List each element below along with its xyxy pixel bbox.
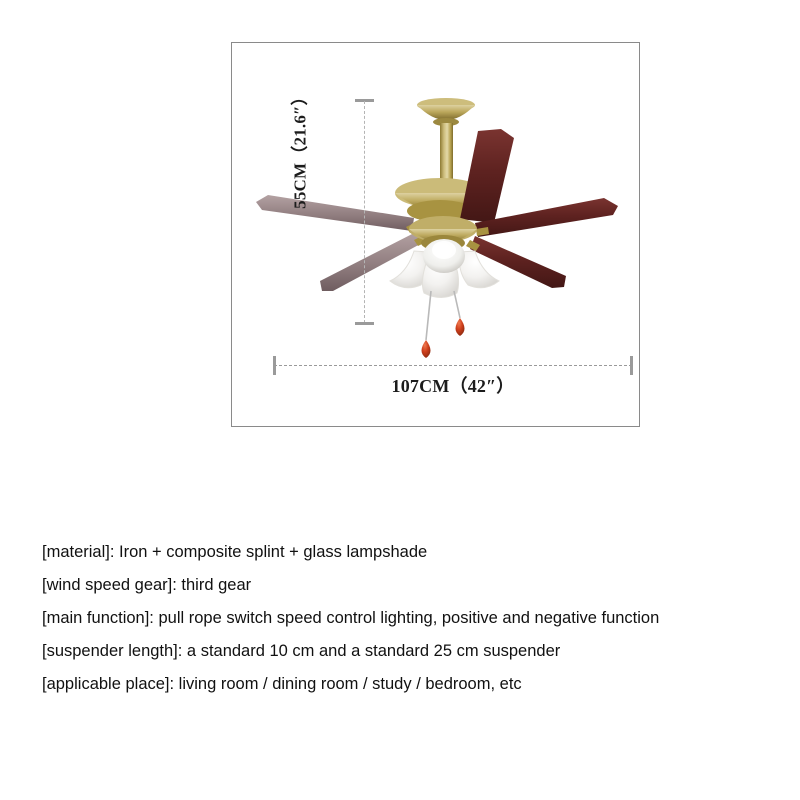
canopy-group: [417, 98, 475, 126]
bulb-highlight: [432, 241, 456, 259]
pull-chain-1: [426, 291, 431, 340]
pull-chains-group: [422, 291, 465, 358]
spec-line-main-function: [main function]: pull rope switch speed …: [42, 602, 782, 635]
width-dimension-line: [274, 365, 632, 366]
width-dimension-label: 107CM（42″）: [274, 372, 632, 398]
height-dimension-label: 55CM（21.6″）: [286, 69, 311, 229]
spec-line-wind-speed-gear: [wind speed gear]: third gear: [42, 569, 782, 602]
pull-chain-2: [454, 291, 460, 318]
blade-back-left: [256, 195, 414, 231]
pull-chain-pendant-2: [456, 318, 465, 336]
fan-blades-front: [460, 129, 618, 288]
specification-list: [material]: Iron + composite splint + gl…: [42, 536, 782, 701]
height-dimension-line: [364, 101, 365, 323]
pull-chain-pendant-1: [422, 340, 431, 358]
spec-line-material: [material]: Iron + composite splint + gl…: [42, 536, 782, 569]
spec-line-suspender-length: [suspender length]: a standard 10 cm and…: [42, 635, 782, 668]
product-image-frame: 55CM（21.6″） 107CM（42″）: [231, 42, 640, 427]
blade-top: [460, 129, 514, 223]
height-dimension-cap-bottom: [355, 322, 374, 325]
spec-line-applicable-place: [applicable place]: living room / dining…: [42, 668, 782, 701]
